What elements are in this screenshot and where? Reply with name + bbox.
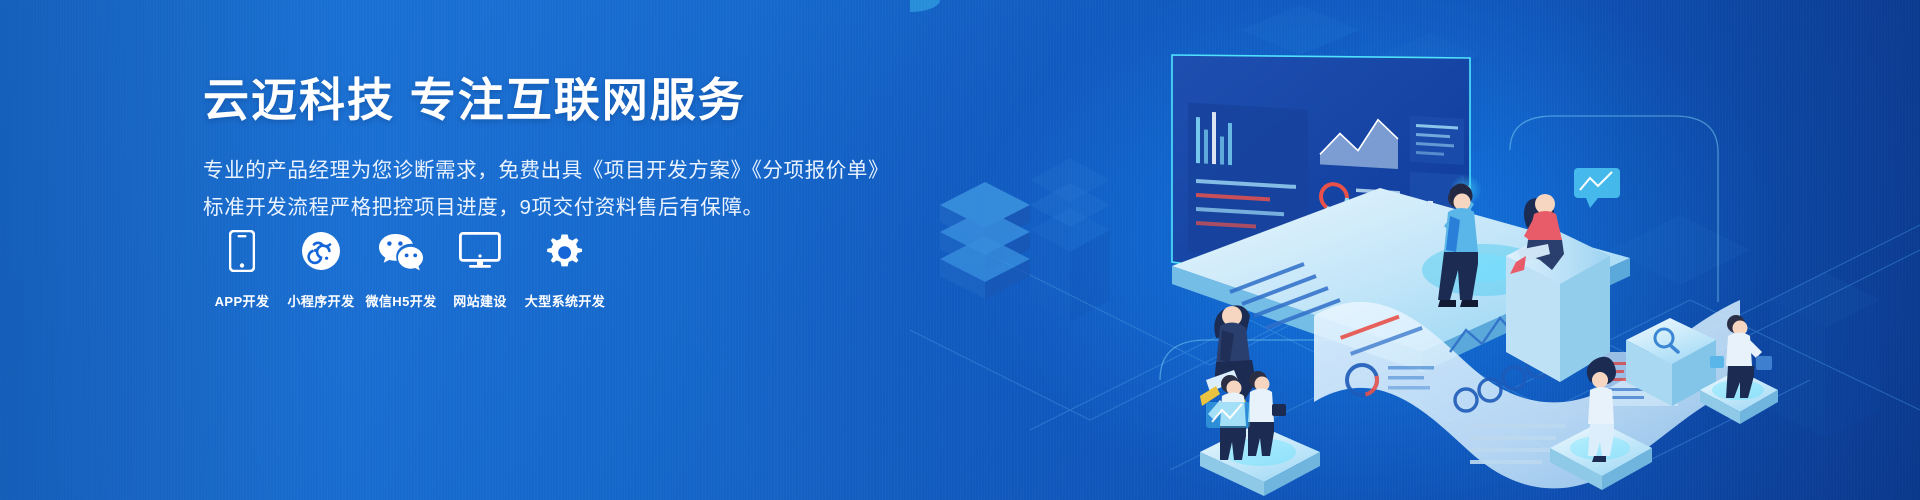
floating-chart-card <box>1206 402 1250 428</box>
service-item-miniprogram[interactable]: 小程序开发 <box>281 228 361 310</box>
server-stack <box>940 182 1030 299</box>
service-item-website[interactable]: 网站建设 <box>441 228 519 310</box>
service-list: APP开发 小程序开发 <box>203 228 611 310</box>
promo-banner: 云迈科技 专注互联网服务 专业的产品经理为您诊断需求，免费出具《项目开发方案》《… <box>0 0 1920 500</box>
page-title: 云迈科技 专注互联网服务 <box>203 72 923 130</box>
wechat-icon <box>378 228 424 274</box>
subtitle-line-2: 标准开发流程严格把控项目进度，9项交付资料售后有保障。 <box>203 189 923 226</box>
subtitle-line-1: 专业的产品经理为您诊断需求，免费出具《项目开发方案》《分项报价单》 <box>203 152 923 189</box>
service-item-large-system[interactable]: 大型系统开发 <box>519 228 611 310</box>
banner-subtitle: 专业的产品经理为您诊断需求，免费出具《项目开发方案》《分项报价单》 标准开发流程… <box>203 152 923 227</box>
mini-program-icon <box>301 228 341 274</box>
isometric-illustration <box>910 0 1920 500</box>
two-people-on-tile <box>1200 371 1320 496</box>
service-label: 网站建设 <box>453 291 507 310</box>
gear-icon <box>545 228 585 274</box>
service-label: APP开发 <box>215 291 270 310</box>
service-label: 大型系统开发 <box>525 291 605 310</box>
service-item-wechat-h5[interactable]: 微信H5开发 <box>361 228 441 310</box>
service-label: 小程序开发 <box>287 291 354 310</box>
service-item-app[interactable]: APP开发 <box>203 228 281 310</box>
service-label: 微信H5开发 <box>365 291 436 310</box>
banner-text-block: 云迈科技 专注互联网服务 专业的产品经理为您诊断需求，免费出具《项目开发方案》《… <box>203 72 923 226</box>
mobile-phone-icon <box>229 228 255 274</box>
woman-on-pedestal-laptop <box>1506 168 1620 382</box>
monitor-icon <box>459 228 501 274</box>
